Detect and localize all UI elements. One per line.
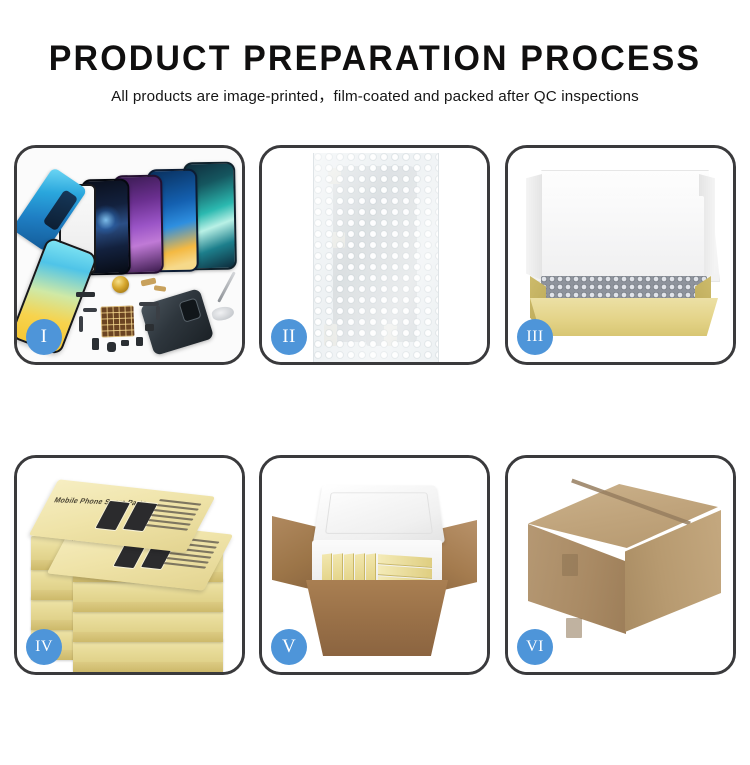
process-row-2: Mobile Phone Spare Parts Mobile Phone Sp… — [0, 455, 750, 675]
step-badge-6: VI — [517, 629, 553, 665]
process-step-6[interactable]: VI — [505, 455, 736, 675]
flex-cable-icon — [156, 306, 160, 320]
box-front-panel-icon — [530, 298, 718, 336]
chip-icon — [136, 337, 143, 346]
flex-cable-icon — [79, 316, 83, 332]
flex-cable-icon — [83, 308, 97, 312]
foam-lid-icon — [313, 485, 445, 543]
bag-sheen — [314, 153, 438, 362]
foam-liner-icon — [542, 196, 704, 282]
process-step-5[interactable]: V — [259, 455, 490, 675]
step-badge-2: II — [271, 319, 307, 355]
bubble-wrap-bag-icon — [313, 153, 439, 362]
process-step-2[interactable]: II — [259, 145, 490, 365]
stacked-box — [73, 638, 223, 672]
packing-tape-icon — [562, 554, 578, 576]
stacked-box — [73, 608, 223, 642]
chip-icon — [121, 340, 129, 346]
camera-module-icon — [107, 342, 116, 352]
step-badge-4: IV — [26, 629, 62, 665]
packing-tape-icon — [566, 618, 582, 638]
process-step-4[interactable]: Mobile Phone Spare Parts Mobile Phone Sp… — [14, 455, 245, 675]
battery-connector-icon — [92, 338, 99, 350]
chip-icon — [76, 292, 95, 297]
process-grid: I II — [0, 145, 750, 765]
chip-icon — [145, 324, 154, 331]
step-badge-5: V — [271, 629, 307, 665]
step-badge-3: III — [517, 319, 553, 355]
process-step-1[interactable]: I — [14, 145, 245, 365]
logic-board-icon — [100, 305, 134, 337]
process-row-1: I II — [0, 145, 750, 365]
process-step-3[interactable]: III — [505, 145, 736, 365]
speaker-coil-icon — [112, 276, 129, 293]
page-header: PRODUCT PREPARATION PROCESS All products… — [0, 0, 750, 104]
box-flap-left-icon — [526, 174, 542, 280]
step-badge-1: I — [26, 319, 62, 355]
page-title: PRODUCT PREPARATION PROCESS — [11, 0, 739, 76]
page-subtitle: All products are image-printed，film-coat… — [0, 76, 750, 104]
carton-body-icon — [306, 580, 448, 656]
